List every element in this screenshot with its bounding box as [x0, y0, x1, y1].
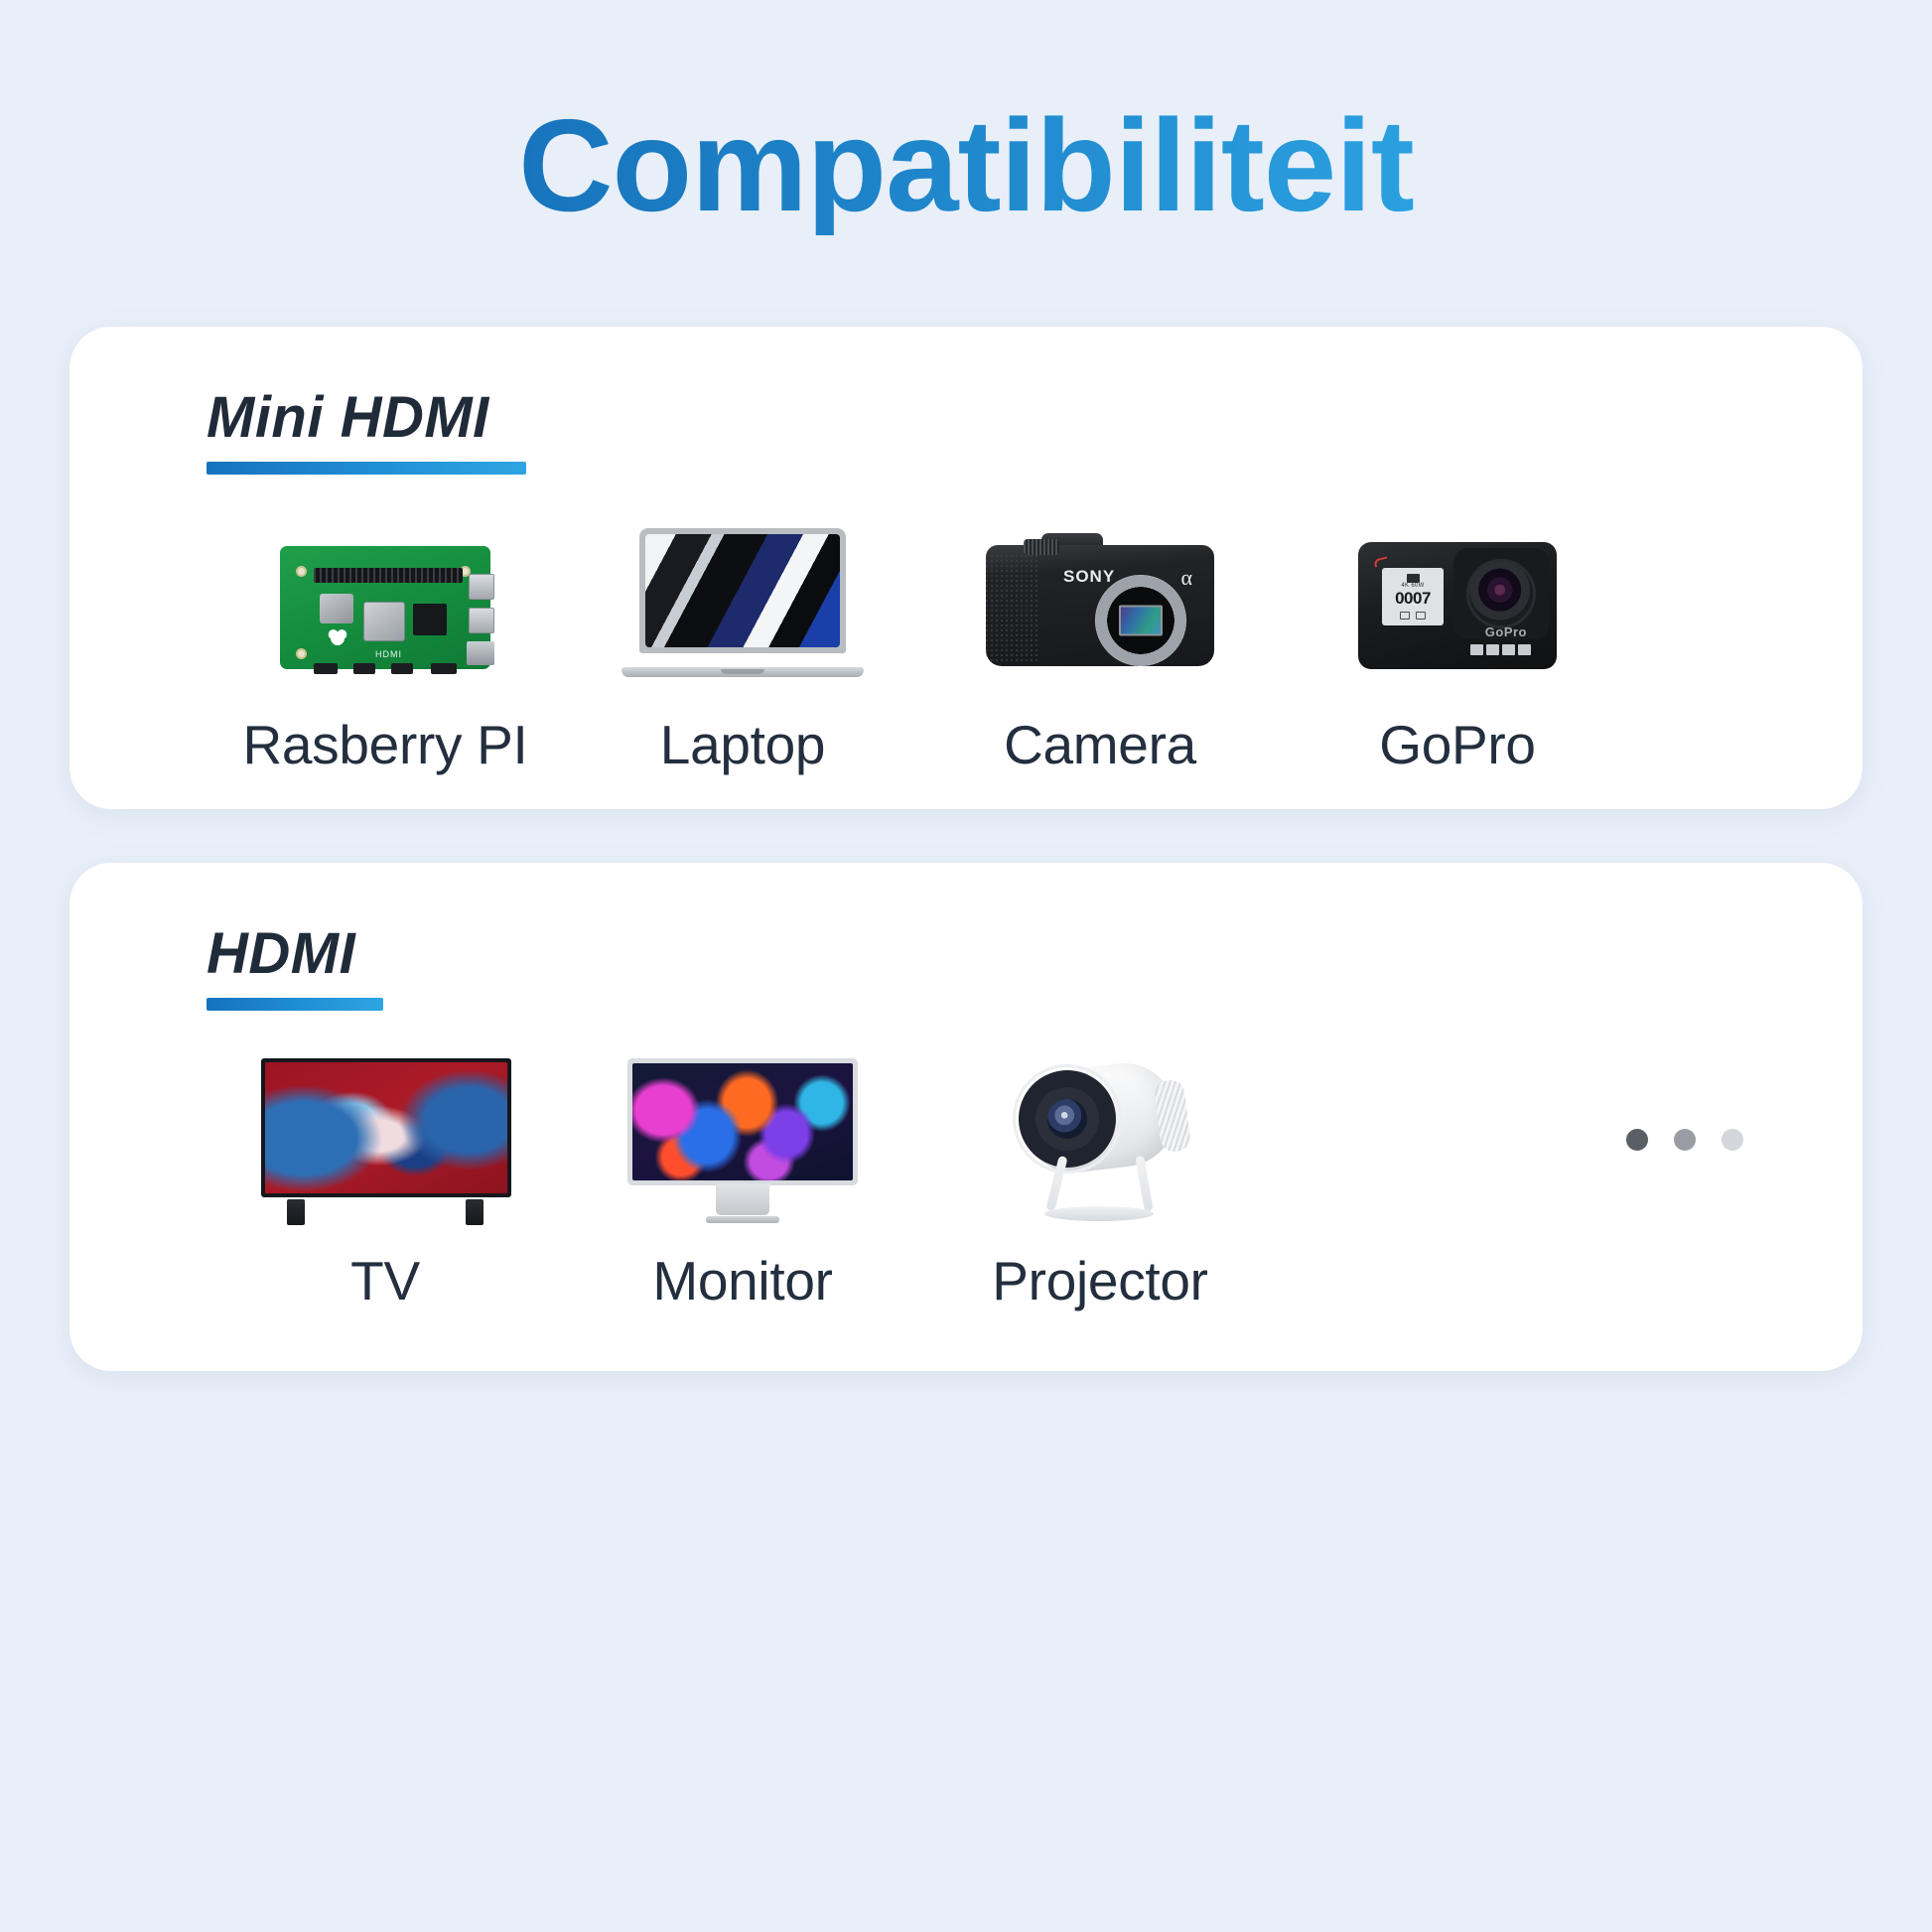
laptop-icon — [619, 518, 867, 693]
device-label-projector: Projector — [992, 1251, 1207, 1312]
compatibility-page: Compatibiliteit Mini HDMI — [0, 0, 1932, 1932]
tv-icon — [261, 1054, 509, 1229]
device-label-laptop: Laptop — [660, 715, 825, 776]
pagination-dot-2[interactable] — [1674, 1129, 1696, 1151]
section-header-mini-hdmi: Mini HDMI — [207, 388, 526, 476]
section-underline-hdmi — [207, 998, 383, 1011]
device-label-gopro: GoPro — [1379, 715, 1535, 776]
device-list-mini-hdmi: HDMI Rasberry PI Lap — [69, 518, 1863, 776]
device-item-gopro[interactable]: 4K 60W 0007 GoPro — [1279, 518, 1636, 776]
device-label-monitor: Monitor — [652, 1251, 832, 1312]
gopro-logo: GoPro — [1485, 624, 1527, 639]
monitor-icon — [619, 1054, 867, 1229]
section-title-mini-hdmi: Mini HDMI — [207, 388, 526, 449]
section-header-hdmi: HDMI — [207, 924, 383, 1012]
device-label-camera: Camera — [1004, 715, 1196, 776]
raspberry-pi-icon: HDMI — [261, 518, 509, 693]
device-item-laptop[interactable]: Laptop — [564, 518, 921, 776]
device-item-projector[interactable]: Projector — [921, 1054, 1279, 1312]
device-item-raspberry-pi[interactable]: HDMI Rasberry PI — [207, 518, 564, 776]
raspberry-pi-port-label: HDMI — [375, 649, 402, 659]
projector-icon — [976, 1054, 1224, 1229]
camera-icon: SONY α — [976, 518, 1224, 693]
section-card-mini-hdmi: Mini HDMI — [69, 327, 1863, 809]
device-item-tv[interactable]: TV — [207, 1054, 564, 1312]
gopro-icon: 4K 60W 0007 GoPro — [1333, 518, 1582, 693]
device-label-raspberry-pi: Rasberry PI — [242, 715, 527, 776]
device-label-tv: TV — [350, 1251, 420, 1312]
compatibility-cards: Mini HDMI — [0, 327, 1932, 1371]
device-list-hdmi: TV Monitor — [69, 1054, 1863, 1312]
camera-brand-label: SONY — [1063, 567, 1115, 587]
carousel-pagination[interactable] — [1626, 1129, 1743, 1151]
device-item-monitor[interactable]: Monitor — [564, 1054, 921, 1312]
camera-alpha-mark: α — [1180, 565, 1192, 591]
section-card-hdmi: HDMI TV — [69, 863, 1863, 1371]
page-title: Compatibiliteit — [518, 97, 1414, 235]
device-item-camera[interactable]: SONY α Camera — [921, 518, 1279, 776]
pagination-dot-1[interactable] — [1626, 1129, 1648, 1151]
pagination-dot-3[interactable] — [1722, 1129, 1743, 1151]
section-title-hdmi: HDMI — [207, 924, 383, 985]
gopro-screen-counter: 0007 — [1395, 589, 1431, 609]
section-underline-mini-hdmi — [207, 462, 526, 475]
